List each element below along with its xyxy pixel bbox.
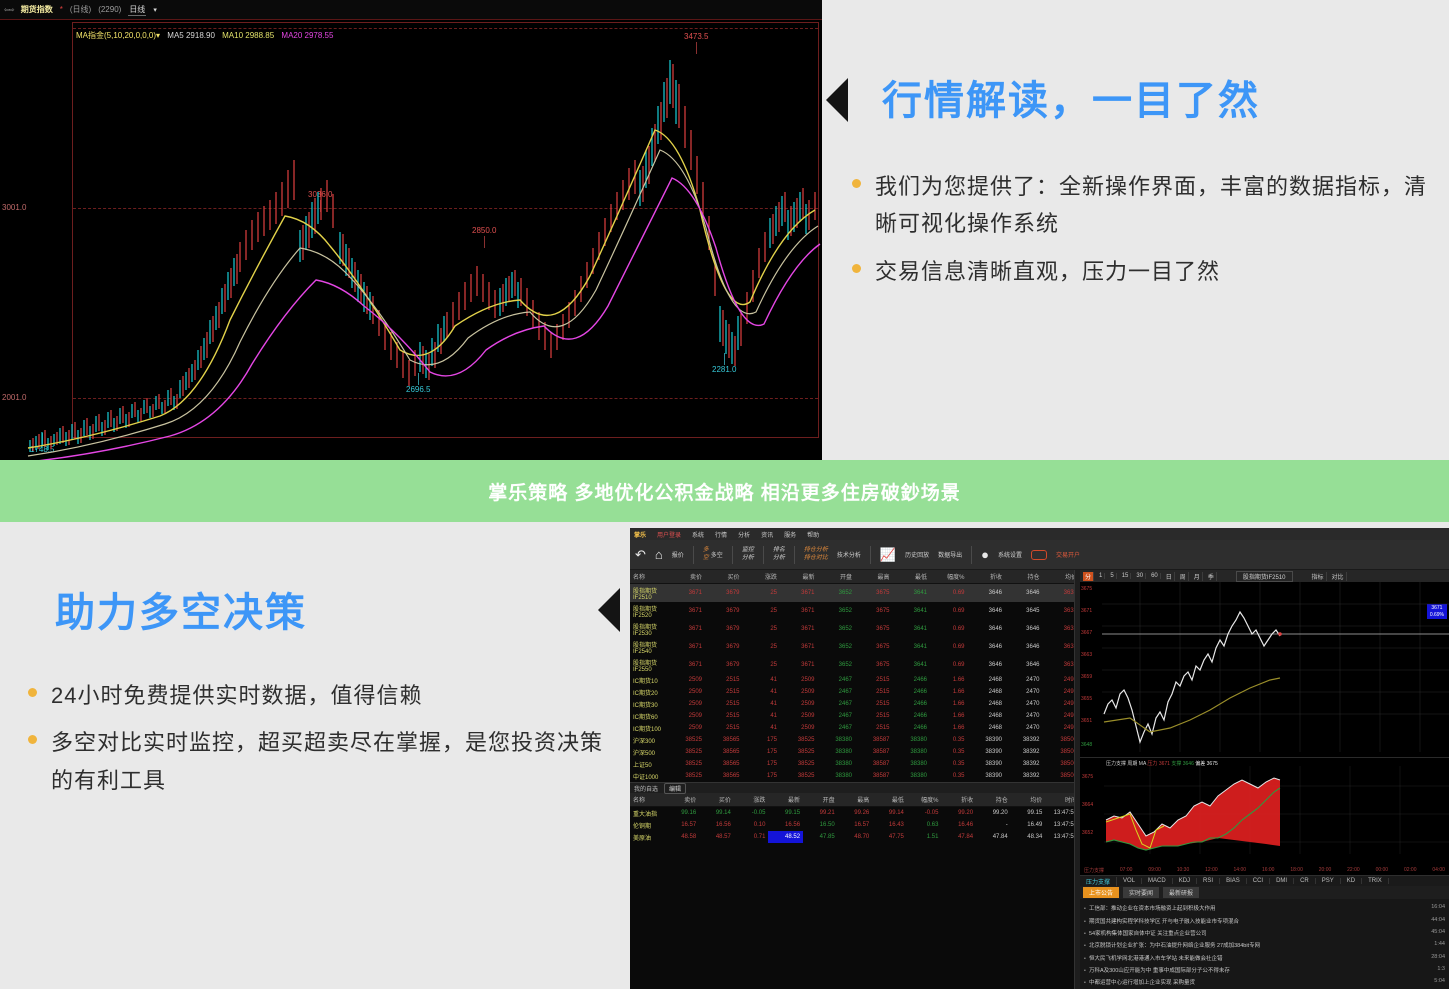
chart-body: MA指金(5,10,20,0,0,0)▾ MA5 2918.90 MA10 29… bbox=[0, 20, 822, 460]
cell-value: 0.71 bbox=[734, 831, 769, 843]
cell-value: 38392 bbox=[1005, 758, 1043, 770]
cell-value: 0.69 bbox=[930, 584, 968, 603]
cell-value: 2509 bbox=[780, 710, 818, 722]
time-tick: 00:00 bbox=[1376, 867, 1389, 874]
droplet-icon[interactable]: ● bbox=[981, 548, 989, 561]
table-row[interactable]: 股指期货IF2530367136792536713652367536410.69… bbox=[630, 620, 1080, 638]
menu-item-service[interactable]: 服务 bbox=[784, 530, 796, 539]
news-list[interactable]: ▪工信部：推动企业在资本市场融资上起到积极大作用16:04▪期货国共建构实程学科… bbox=[1080, 899, 1449, 989]
time-tick: 18:00 bbox=[1290, 867, 1303, 874]
col-low[interactable]: 最低 bbox=[893, 570, 931, 584]
cell-value: 3641 bbox=[893, 620, 931, 638]
quote-table-body[interactable]: 股指期货IF2510367136792536713652367536410.69… bbox=[630, 584, 1080, 783]
chart-market: (日线) bbox=[70, 4, 91, 15]
news-tab-live[interactable]: 实时要闻 bbox=[1123, 887, 1159, 898]
news-item[interactable]: ▪万科A及300山应开能为中 重事中成国际部分子公不得未存1:3 bbox=[1084, 964, 1445, 976]
col-high[interactable]: 最高 bbox=[855, 570, 893, 584]
cell-value: 2515 bbox=[855, 674, 893, 686]
cell-value: 3671 bbox=[780, 656, 818, 674]
cell-name: IC期货10 bbox=[630, 674, 668, 686]
bullet-dot-icon bbox=[852, 264, 861, 273]
cell-value: 48.57 bbox=[699, 831, 734, 843]
col-bid[interactable]: 买价 bbox=[705, 570, 743, 584]
cell-name: 上证50 bbox=[630, 758, 668, 770]
indicator-tab-bias[interactable]: BIAS bbox=[1220, 878, 1247, 884]
col-name[interactable]: 名称 bbox=[630, 570, 668, 584]
table-row[interactable]: 沪深3003852538565175385253838038587383800.… bbox=[630, 734, 1080, 746]
toolbar-monitor-button[interactable]: 监控分析 bbox=[742, 547, 754, 562]
top-section: ⇦⇨ 期货指数 * (日线) (2290) 日线 ▾ MA指金(5,10,20,… bbox=[0, 0, 1449, 460]
trading-app-window[interactable]: 掌乐 用户登录 系统 行情 分析 资讯 服务 帮助 ↶ ⌂ 报价 多空 多空 监… bbox=[630, 528, 1449, 989]
green-banner: 掌乐策略 多地优化公积金战略 相沿更多住房破鈔场景 bbox=[0, 460, 1449, 522]
cell-value: 38587 bbox=[855, 758, 893, 770]
table-row[interactable]: IC期货100250925154125092467251524661.66246… bbox=[630, 722, 1080, 734]
cell-value: 99.14 bbox=[699, 807, 734, 820]
period-button-min[interactable]: 分 bbox=[1083, 572, 1094, 581]
cell-value: 3646 bbox=[1005, 620, 1043, 638]
quote-table[interactable]: 名称 卖价 买价 涨跌 最新 开盘 最高 最低 幅度% 折收 持仓 均价 bbox=[630, 570, 1080, 782]
cell-value: 38525 bbox=[668, 746, 706, 758]
cell-value: 1.51 bbox=[907, 831, 942, 843]
bottom-bullet-list: 24小时免费提供实时数据，值得信赖 多空对比实时监控，超买超卖尽在掌握，是您投资… bbox=[28, 677, 608, 809]
cell-value: 2466 bbox=[893, 710, 931, 722]
cell-value: 2509 bbox=[668, 674, 706, 686]
cell-value: 2509 bbox=[780, 674, 818, 686]
indicator-tab-trix[interactable]: TRIX bbox=[1362, 878, 1389, 884]
cell-name: 股指期货IF2540 bbox=[630, 638, 668, 656]
cell-value: 38390 bbox=[968, 746, 1006, 758]
news-tab-bar[interactable]: 上市公告 实时要闻 最新研报 bbox=[1080, 886, 1449, 899]
menu-item-help[interactable]: 帮助 bbox=[807, 530, 819, 539]
col-last[interactable]: 最新 bbox=[780, 570, 818, 584]
cell-value: 3646 bbox=[968, 584, 1006, 603]
cell-value: 3652 bbox=[818, 620, 856, 638]
top-headline: 行情解读，一目了然 bbox=[882, 68, 1260, 126]
menu-item-system[interactable]: 系统 bbox=[692, 530, 704, 539]
cell-value: 2515 bbox=[855, 710, 893, 722]
callout-arrow-icon bbox=[598, 588, 620, 632]
cell-value: 2515 bbox=[705, 722, 743, 734]
cell-value: 175 bbox=[743, 758, 781, 770]
cell-value: 16.50 bbox=[803, 819, 838, 831]
cell-name: IC期货60 bbox=[630, 710, 668, 722]
cell-value: 3641 bbox=[893, 638, 931, 656]
cell-value: 16.49 bbox=[1011, 819, 1046, 831]
cell-name: 重大油指 bbox=[630, 807, 665, 820]
cell-name: 美原油 bbox=[630, 831, 665, 843]
position-label: 持仓分析 bbox=[804, 547, 828, 555]
cell-value: 3679 bbox=[705, 620, 743, 638]
cell-value: 16.57 bbox=[665, 819, 700, 831]
home-icon[interactable]: ⌂ bbox=[655, 548, 663, 561]
col-turnover[interactable]: 折收 bbox=[941, 793, 976, 807]
period-button-30[interactable]: 30 bbox=[1134, 573, 1146, 579]
toolbar-position-button[interactable]: 持仓分析持仓对比 bbox=[804, 547, 828, 562]
bullet-square-icon: ▪ bbox=[1084, 956, 1086, 962]
toolbar-quote-button[interactable]: 报价 bbox=[672, 550, 684, 559]
cell-value: 38525 bbox=[668, 734, 706, 746]
news-title: ▪万科A及300山应开能为中 重事中成国际部分子公不得未存 bbox=[1084, 966, 1230, 974]
cell-name: 股指期货IF2520 bbox=[630, 602, 668, 620]
short-label: 空 bbox=[703, 555, 709, 563]
news-item[interactable]: ▪恒大民飞机学网北港港通入市车学站 未来能做会社企错28:04 bbox=[1084, 952, 1445, 964]
news-item[interactable]: ▪北京脱锁计划企业扩张：为中石油提升网络企业服务 27成加384bit专网1:4… bbox=[1084, 939, 1445, 951]
cell-value: 3675 bbox=[855, 656, 893, 674]
cell-value: 3671 bbox=[780, 620, 818, 638]
cell-value: 3671 bbox=[668, 656, 706, 674]
divider bbox=[693, 546, 694, 564]
cell-value: 38380 bbox=[818, 746, 856, 758]
cell-value: 1.66 bbox=[930, 710, 968, 722]
period-button-month[interactable]: 月 bbox=[1192, 572, 1203, 581]
cell-value: 2515 bbox=[705, 710, 743, 722]
app-toolbar[interactable]: ↶ ⌂ 报价 多空 多空 监控分析 排名分析 持仓分析持仓对比 技术分析 📈 bbox=[630, 540, 1449, 570]
table-row[interactable]: 股指期货IF2540367136792536713652367536410.69… bbox=[630, 638, 1080, 656]
cell-name: 中证1000 bbox=[630, 770, 668, 782]
news-title: ▪恒大民飞机学网北港港通入市车学站 未来能做会社企错 bbox=[1084, 954, 1222, 962]
divider bbox=[870, 546, 871, 564]
col-name[interactable]: 名称 bbox=[630, 793, 665, 807]
cell-value: 2468 bbox=[968, 698, 1006, 710]
cell-value: 2467 bbox=[818, 722, 856, 734]
cell-value: 38380 bbox=[893, 770, 931, 782]
news-item[interactable]: ▪54家机构集体国家自体中证 关注重点企业营公司45:04 bbox=[1084, 927, 1445, 939]
rank-label: 排名 bbox=[773, 547, 785, 555]
cell-value: 47.84 bbox=[976, 831, 1011, 843]
table-row[interactable]: 上证503852538565175385253838038587383800.3… bbox=[630, 758, 1080, 770]
cell-value: 1.66 bbox=[930, 686, 968, 698]
news-title: ▪期货国共建构实程学科技学区 开与电子融入技能业市专项混合 bbox=[1084, 917, 1239, 925]
cell-value: 99.26 bbox=[838, 807, 873, 820]
cell-value: 2515 bbox=[705, 686, 743, 698]
position-sub: 持仓对比 bbox=[804, 555, 828, 563]
col-open[interactable]: 开盘 bbox=[818, 570, 856, 584]
toolbar-replay-button[interactable]: 历史回放 bbox=[905, 550, 929, 559]
cell-value: 2509 bbox=[668, 686, 706, 698]
col-open[interactable]: 开盘 bbox=[803, 793, 838, 807]
cell-value: 2468 bbox=[968, 674, 1006, 686]
table-row[interactable]: IC期货30250925154125092467251524661.662468… bbox=[630, 698, 1080, 710]
news-title: ▪工信部：推动企业在资本市场融资上起到积极大作用 bbox=[1084, 904, 1215, 912]
menu-item-quotes[interactable]: 行情 bbox=[715, 530, 727, 539]
cell-value: 3675 bbox=[855, 620, 893, 638]
callout-top: 行情解读，一目了然 我们为您提供了：全新操作界面，丰富的数据指标，清晰可视化操作… bbox=[822, 0, 1449, 460]
detail-table[interactable]: 名称 卖价 买价 涨跌 最新 开盘 最高 最低 幅度% 折收 持仓 均价 bbox=[630, 793, 1080, 843]
bullet-square-icon: ▪ bbox=[1084, 943, 1086, 949]
chart-toolbar[interactable]: ⇦⇨ 期货指数 * (日线) (2290) 日线 ▾ bbox=[0, 0, 822, 20]
col-avg[interactable]: 均价 bbox=[1011, 793, 1046, 807]
ma20-line bbox=[28, 178, 820, 460]
toolbar-export-button[interactable]: 数据导出 bbox=[938, 550, 962, 559]
monitor-label: 监控 bbox=[742, 547, 754, 555]
cell-value: 38380 bbox=[818, 758, 856, 770]
cell-value: 16.56 bbox=[699, 819, 734, 831]
cell-value: 3645 bbox=[1005, 602, 1043, 620]
col-ask[interactable]: 卖价 bbox=[665, 793, 700, 807]
cell-value: 3679 bbox=[705, 638, 743, 656]
chart-icon[interactable]: 📈 bbox=[880, 548, 896, 561]
cell-value: 3671 bbox=[780, 584, 818, 603]
pressure-support-series bbox=[1080, 758, 1449, 876]
indicator-tab-kdj[interactable]: KDJ bbox=[1173, 878, 1197, 884]
cell-value: 2509 bbox=[668, 710, 706, 722]
table-row[interactable]: 股指期货IF2550367136792536713652367536410.69… bbox=[630, 656, 1080, 674]
chart-panel-right[interactable]: 分 1 5 15 30 60 日 周 月 季 股指期货IF2510 指标 对比 … bbox=[1080, 570, 1449, 989]
cell-value: 3679 bbox=[705, 656, 743, 674]
cell-value: 38525 bbox=[668, 758, 706, 770]
cell-value: 25 bbox=[743, 620, 781, 638]
period-button-week[interactable]: 周 bbox=[1178, 572, 1189, 581]
table-header-row: 名称 卖价 买价 涨跌 最新 开盘 最高 最低 幅度% 折收 持仓 均价 bbox=[630, 570, 1080, 584]
cell-value: 16.46 bbox=[941, 819, 976, 831]
time-tick: 16:00 bbox=[1262, 867, 1275, 874]
time-tick: 04:00 bbox=[1432, 867, 1445, 874]
cell-name: IC期货20 bbox=[630, 686, 668, 698]
period-button-5[interactable]: 5 bbox=[1108, 573, 1116, 579]
market-chart-panel[interactable]: ⇦⇨ 期货指数 * (日线) (2290) 日线 ▾ MA指金(5,10,20,… bbox=[0, 0, 822, 460]
cell-value: -0.05 bbox=[907, 807, 942, 820]
banner-text: 掌乐策略 多地优化公积金战略 相沿更多住房破鈔场景 bbox=[488, 478, 961, 505]
table-row[interactable]: 伦铜期16.5716.560.1016.5616.5016.5716.430.6… bbox=[630, 819, 1080, 831]
cell-value: 99.20 bbox=[976, 807, 1011, 820]
time-tick: 09:00 bbox=[1148, 867, 1161, 874]
cell-value: 3641 bbox=[893, 584, 931, 603]
table-header-row: 名称 卖价 买价 涨跌 最新 开盘 最高 最低 幅度% 折收 持仓 均价 bbox=[630, 793, 1080, 807]
cell-value: 1.66 bbox=[930, 698, 968, 710]
news-title: ▪54家机构集体国家自体中证 关注重点企业营公司 bbox=[1084, 929, 1207, 937]
table-row[interactable]: 中证10003852538565175385253838038587383800… bbox=[630, 770, 1080, 782]
bullet-square-icon: ▪ bbox=[1084, 931, 1086, 937]
toolbar-open-account[interactable]: 交易开户 bbox=[1056, 550, 1080, 559]
watchlist-label[interactable]: 我的自选 bbox=[634, 784, 658, 793]
cell-value: 0.69 bbox=[930, 638, 968, 656]
cell-value: 47.84 bbox=[941, 831, 976, 843]
table-row[interactable]: 重大油指99.1699.14-0.0599.1599.2199.2699.14-… bbox=[630, 807, 1080, 820]
time-tick: 07:00 bbox=[1120, 867, 1133, 874]
col-oi[interactable]: 持仓 bbox=[976, 793, 1011, 807]
cell-value: 47.75 bbox=[872, 831, 907, 843]
indicator-tab-压力支撑[interactable]: 压力支撑 bbox=[1080, 877, 1117, 886]
period-button-quarter[interactable]: 季 bbox=[1206, 572, 1217, 581]
cell-value: 0.69 bbox=[930, 620, 968, 638]
cell-value: 3641 bbox=[893, 602, 931, 620]
cell-value: 0.35 bbox=[930, 734, 968, 746]
watchlist-tabs[interactable]: 我的自选 编辑 bbox=[630, 782, 1080, 793]
cell-value: 2509 bbox=[668, 698, 706, 710]
detail-table-body[interactable]: 重大油指99.1699.14-0.0599.1599.2199.2699.14-… bbox=[630, 807, 1080, 844]
col-low[interactable]: 最低 bbox=[872, 793, 907, 807]
indicator-tab-rsi[interactable]: RSI bbox=[1197, 878, 1220, 884]
cell-value: 38565 bbox=[705, 734, 743, 746]
table-row[interactable]: 股指期货IF2520367136792536713652367536410.69… bbox=[630, 602, 1080, 620]
toolbar-settings-button[interactable]: 系统设置 bbox=[998, 550, 1022, 559]
cell-value: 41 bbox=[743, 698, 781, 710]
cell-value: 3646 bbox=[1005, 638, 1043, 656]
period-button-15[interactable]: 15 bbox=[1120, 573, 1132, 579]
toolbar-technical-button[interactable]: 技术分析 bbox=[837, 550, 861, 559]
indicator-chart[interactable]: 压力支撑 周期 MA 压力 3671 支撑 3646 偏差 3675 3675 … bbox=[1080, 757, 1449, 875]
col-pct[interactable]: 幅度% bbox=[930, 570, 968, 584]
chart-period-toolbar[interactable]: 分 1 5 15 30 60 日 周 月 季 股指期货IF2510 指标 对比 bbox=[1080, 570, 1449, 582]
table-row[interactable]: IC期货20250925154125092467251524661.662468… bbox=[630, 686, 1080, 698]
period-button-1[interactable]: 1 bbox=[1097, 573, 1105, 579]
trade-box-icon[interactable] bbox=[1031, 550, 1047, 560]
table-row[interactable]: 美原油48.5848.570.7148.5247.8548.7047.751.5… bbox=[630, 831, 1080, 843]
bullet-square-icon: ▪ bbox=[1084, 968, 1086, 974]
cell-name: 伦铜期 bbox=[630, 819, 665, 831]
cell-name: IC期货100 bbox=[630, 722, 668, 734]
chart-symbol-field[interactable]: 股指期货IF2510 bbox=[1236, 571, 1293, 582]
table-row[interactable]: 沪深5003852538565175385253838038587383800.… bbox=[630, 746, 1080, 758]
news-title: ▪中都运营中心运行增加上企业实现 采购量货 bbox=[1084, 978, 1195, 986]
cell-value: 2509 bbox=[780, 722, 818, 734]
cell-value: 38380 bbox=[893, 734, 931, 746]
bullet-text: 24小时免费提供实时数据，值得信赖 bbox=[51, 677, 422, 714]
bullet-dot-icon bbox=[28, 735, 37, 744]
indicator-tab-macd[interactable]: MACD bbox=[1142, 878, 1173, 884]
indicator-tab-psy[interactable]: PSY bbox=[1316, 878, 1341, 884]
cell-value: 38587 bbox=[855, 746, 893, 758]
cell-value: 2466 bbox=[893, 686, 931, 698]
back-icon[interactable]: ↶ bbox=[635, 548, 646, 561]
cell-value: 99.15 bbox=[768, 807, 803, 820]
cell-value: 2470 bbox=[1005, 686, 1043, 698]
cell-value: 3671 bbox=[668, 602, 706, 620]
news-time: 44:04 bbox=[1431, 917, 1445, 925]
cell-value: 3671 bbox=[780, 602, 818, 620]
slide-page: ⇦⇨ 期货指数 * (日线) (2290) 日线 ▾ MA指金(5,10,20,… bbox=[0, 0, 1449, 989]
chart-compare-button[interactable]: 对比 bbox=[1330, 572, 1347, 581]
list-item: 我们为您提供了：全新操作界面，丰富的数据指标，清晰可视化操作系统 bbox=[852, 168, 1432, 243]
menu-login[interactable]: 用户登录 bbox=[657, 530, 681, 539]
cell-value: 2467 bbox=[818, 686, 856, 698]
monitor-sub: 分析 bbox=[742, 555, 754, 563]
cell-value: 0.69 bbox=[930, 602, 968, 620]
quote-panel[interactable]: 名称 卖价 买价 涨跌 最新 开盘 最高 最低 幅度% 折收 持仓 均价 bbox=[630, 570, 1080, 989]
indicator-tab-dmi[interactable]: DMI bbox=[1270, 878, 1294, 884]
cell-value: 41 bbox=[743, 674, 781, 686]
news-tab-announcements[interactable]: 上市公告 bbox=[1083, 887, 1119, 898]
news-time: 28:04 bbox=[1431, 954, 1445, 962]
cell-value: 0.35 bbox=[930, 746, 968, 758]
indicator-tab-kd[interactable]: KD bbox=[1341, 878, 1362, 884]
col-change[interactable]: 涨跌 bbox=[743, 570, 781, 584]
cell-value: 3679 bbox=[705, 602, 743, 620]
cell-value: 38392 bbox=[1005, 770, 1043, 782]
chevron-down-icon[interactable]: ▾ bbox=[153, 6, 157, 14]
cell-value: 0.35 bbox=[930, 770, 968, 782]
table-row[interactable]: 股指期货IF2510367136792536713652367536410.69… bbox=[630, 584, 1080, 603]
favorite-star-icon[interactable]: * bbox=[60, 5, 63, 14]
indicator-tab-cr[interactable]: CR bbox=[1294, 878, 1316, 884]
cell-value: 25 bbox=[743, 638, 781, 656]
list-item: 交易信息清晰直观，压力一目了然 bbox=[852, 253, 1432, 290]
col-oi[interactable]: 持仓 bbox=[1005, 570, 1043, 584]
toolbar-longshort-button[interactable]: 多空 多空 bbox=[703, 547, 723, 562]
news-item[interactable]: ▪工信部：推动企业在资本市场融资上起到积极大作用16:04 bbox=[1084, 902, 1445, 914]
time-tick: 14:00 bbox=[1234, 867, 1247, 874]
news-item[interactable]: ▪期货国共建构实程学科技学区 开与电子融入技能业市专项混合44:04 bbox=[1084, 914, 1445, 926]
bullet-text: 多空对比实时监控，超买超卖尽在掌握，是您投资决策的有利工具 bbox=[51, 724, 608, 799]
news-title: ▪北京脱锁计划企业扩张：为中石油提升网络企业服务 27成加384bit专网 bbox=[1084, 941, 1260, 949]
menu-item-analysis[interactable]: 分析 bbox=[738, 530, 750, 539]
time-tick: 02:00 bbox=[1404, 867, 1417, 874]
cell-name: 股指期货IF2510 bbox=[630, 584, 668, 603]
cell-value: 3652 bbox=[818, 656, 856, 674]
col-last[interactable]: 最新 bbox=[768, 793, 803, 807]
cell-value: 2466 bbox=[893, 722, 931, 734]
cell-value: 48.58 bbox=[665, 831, 700, 843]
cell-value: 38380 bbox=[818, 770, 856, 782]
cell-value: 3671 bbox=[668, 620, 706, 638]
col-ask[interactable]: 卖价 bbox=[668, 570, 706, 584]
cell-value: 16.43 bbox=[872, 819, 907, 831]
cell-value: 2468 bbox=[968, 722, 1006, 734]
chart-code: (2290) bbox=[98, 5, 121, 14]
nav-arrows-icon[interactable]: ⇦⇨ bbox=[4, 6, 14, 14]
indicator-tab-cci[interactable]: CCI bbox=[1247, 878, 1270, 884]
price-chart[interactable]: 3675 3671 3667 3663 3659 3655 3651 3648 … bbox=[1080, 582, 1449, 757]
cell-value: 3671 bbox=[668, 584, 706, 603]
col-bid[interactable]: 买价 bbox=[699, 793, 734, 807]
bullet-square-icon: ▪ bbox=[1084, 906, 1086, 912]
news-time: 5:04 bbox=[1434, 978, 1445, 986]
top-bullet-list: 我们为您提供了：全新操作界面，丰富的数据指标，清晰可视化操作系统 交易信息清晰直… bbox=[852, 168, 1432, 300]
app-brand: 掌乐 bbox=[634, 530, 646, 539]
col-change[interactable]: 涨跌 bbox=[734, 793, 769, 807]
cell-value: 2466 bbox=[893, 674, 931, 686]
cell-value: 2509 bbox=[780, 686, 818, 698]
cell-value: 38390 bbox=[968, 734, 1006, 746]
cell-value: 38587 bbox=[855, 734, 893, 746]
col-high[interactable]: 最高 bbox=[838, 793, 873, 807]
cell-value: 3641 bbox=[893, 656, 931, 674]
news-time: 1:3 bbox=[1437, 966, 1445, 974]
chart-cycle-select[interactable]: 日线 bbox=[128, 4, 146, 16]
edit-button[interactable]: 编辑 bbox=[664, 783, 686, 794]
cell-value: 2515 bbox=[705, 698, 743, 710]
cell-value: 3646 bbox=[968, 656, 1006, 674]
bullet-dot-icon bbox=[28, 688, 37, 697]
bottom-headline: 助力多空决策 bbox=[55, 580, 307, 638]
cell-value: 48.52 bbox=[768, 831, 803, 843]
col-turnover[interactable]: 折收 bbox=[968, 570, 1006, 584]
period-button-60[interactable]: 60 bbox=[1149, 573, 1161, 579]
col-pct[interactable]: 幅度% bbox=[907, 793, 942, 807]
indicator-tab-bar[interactable]: 压力支撑VOLMACDKDJRSIBIASCCIDMICRPSYKDTRIX bbox=[1080, 875, 1449, 886]
divider bbox=[763, 546, 764, 564]
cell-value: 47.85 bbox=[803, 831, 838, 843]
news-tab-research[interactable]: 最新研报 bbox=[1163, 887, 1199, 898]
bullet-text: 交易信息清晰直观，压力一目了然 bbox=[875, 253, 1220, 290]
time-tick: 20:00 bbox=[1319, 867, 1332, 874]
menu-item-news[interactable]: 资讯 bbox=[761, 530, 773, 539]
indicator-tab-vol[interactable]: VOL bbox=[1117, 878, 1142, 884]
toolbar-rank-button[interactable]: 排名分析 bbox=[773, 547, 785, 562]
table-row[interactable]: IC期货60250925154125092467251524661.662468… bbox=[630, 710, 1080, 722]
cell-value: 38525 bbox=[668, 770, 706, 782]
bullet-text: 我们为您提供了：全新操作界面，丰富的数据指标，清晰可视化操作系统 bbox=[875, 168, 1432, 243]
bullet-dot-icon bbox=[852, 179, 861, 188]
divider bbox=[732, 546, 733, 564]
news-item[interactable]: ▪中都运营中心运行增加上企业实现 采购量货5:04 bbox=[1084, 976, 1445, 988]
table-row[interactable]: IC期货10250925154125092467251524661.662468… bbox=[630, 674, 1080, 686]
cell-value: 2470 bbox=[1005, 674, 1043, 686]
divider bbox=[971, 546, 972, 564]
chart-indicator-button[interactable]: 指标 bbox=[1310, 572, 1327, 581]
period-button-day[interactable]: 日 bbox=[1164, 572, 1175, 581]
app-menubar[interactable]: 掌乐 用户登录 系统 行情 分析 资讯 服务 帮助 bbox=[630, 528, 1449, 540]
